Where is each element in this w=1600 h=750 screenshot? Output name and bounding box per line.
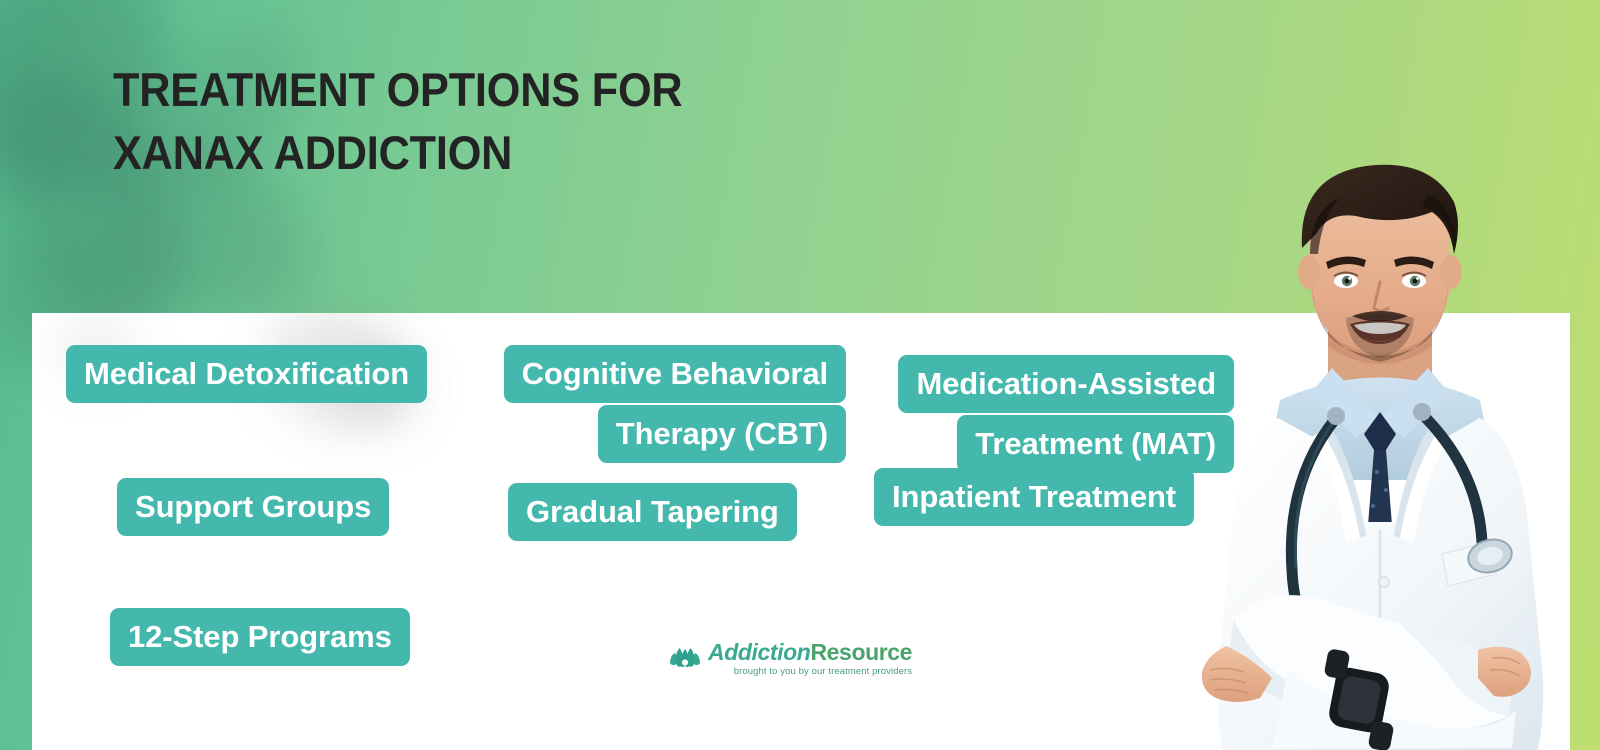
pill-line: Therapy (CBT): [598, 405, 846, 463]
addiction-resource-logo[interactable]: AddictionResource brought to you by our …: [668, 640, 912, 678]
treatment-option-support-groups[interactable]: Support Groups: [117, 478, 389, 536]
pill-line: Inpatient Treatment: [874, 468, 1194, 526]
treatment-option-12-step-programs[interactable]: 12-Step Programs: [110, 608, 410, 666]
logo-word-resource: Resource: [810, 639, 912, 665]
logo-tagline: brought to you by our treatment provider…: [708, 666, 912, 678]
treatment-option-inpatient-treatment[interactable]: Inpatient Treatment: [874, 468, 1194, 526]
logo-wordmark: AddictionResource: [708, 640, 912, 665]
logo-word-addiction: Addiction: [708, 639, 810, 665]
pill-line: Gradual Tapering: [508, 483, 797, 541]
lotus-person-icon: [668, 646, 702, 676]
logo-text: AddictionResource brought to you by our …: [708, 640, 912, 678]
infographic-canvas: TREATMENT OPTIONS FOR XANAX ADDICTION Me…: [0, 0, 1600, 750]
page-title: TREATMENT OPTIONS FOR XANAX ADDICTION: [113, 58, 849, 184]
pill-line: Medical Detoxification: [66, 345, 427, 403]
pill-line: 12-Step Programs: [110, 608, 410, 666]
treatment-option-cognitive-behavioral-therapy[interactable]: Cognitive Behavioral Therapy (CBT): [478, 345, 846, 463]
pill-line: Support Groups: [117, 478, 389, 536]
treatment-option-medical-detoxification[interactable]: Medical Detoxification: [66, 345, 427, 403]
pill-line: Medication-Assisted: [898, 355, 1234, 413]
pill-line: Treatment (MAT): [957, 415, 1234, 473]
pill-line: Cognitive Behavioral: [504, 345, 846, 403]
treatment-option-gradual-tapering[interactable]: Gradual Tapering: [508, 483, 797, 541]
treatment-option-medication-assisted-treatment[interactable]: Medication-Assisted Treatment (MAT): [866, 355, 1234, 473]
